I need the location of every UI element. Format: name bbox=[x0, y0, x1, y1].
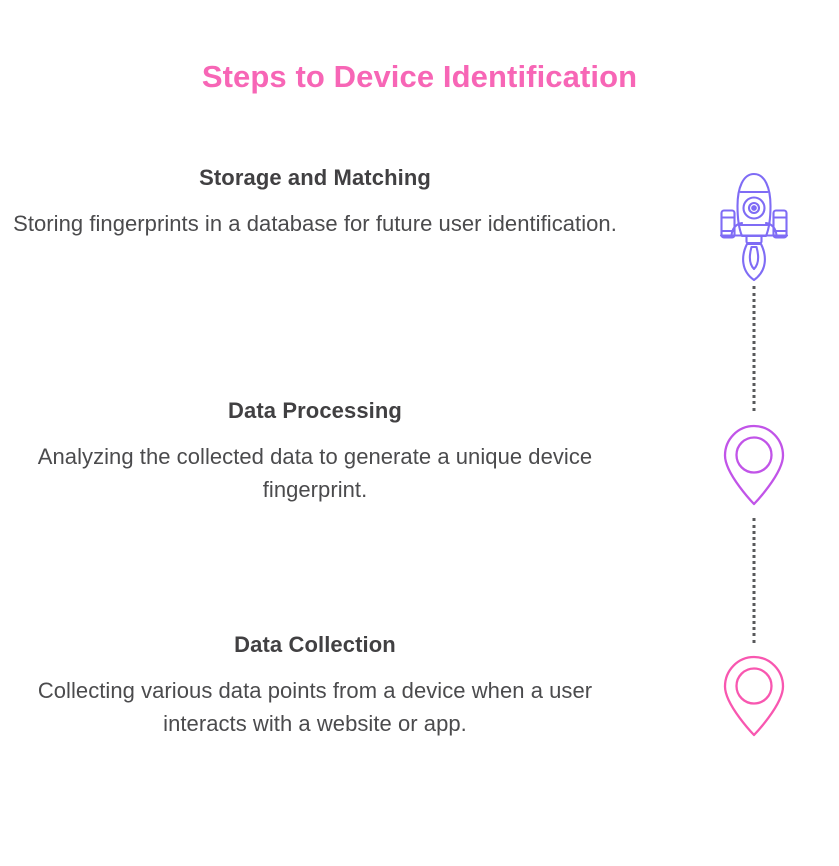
step-heading: Storage and Matching bbox=[0, 163, 630, 193]
timeline-column bbox=[660, 0, 839, 866]
step-item: Data Processing Analyzing the collected … bbox=[0, 396, 630, 506]
steps-column: Storage and Matching Storing fingerprint… bbox=[0, 0, 660, 866]
rocket-icon bbox=[716, 168, 792, 283]
step-item: Data Collection Collecting various data … bbox=[0, 630, 630, 740]
location-pin-icon bbox=[721, 424, 787, 506]
step-heading: Data Processing bbox=[0, 396, 630, 426]
location-pin-icon bbox=[721, 655, 787, 737]
infographic-root: Steps to Device Identification Storage a… bbox=[0, 0, 839, 866]
step-description: Analyzing the collected data to generate… bbox=[0, 440, 630, 506]
step-description: Collecting various data points from a de… bbox=[0, 674, 630, 740]
step-heading: Data Collection bbox=[0, 630, 630, 660]
timeline-connector bbox=[752, 518, 755, 643]
step-description: Storing fingerprints in a database for f… bbox=[0, 207, 630, 240]
timeline-connector bbox=[752, 286, 755, 411]
step-item: Storage and Matching Storing fingerprint… bbox=[0, 163, 630, 240]
